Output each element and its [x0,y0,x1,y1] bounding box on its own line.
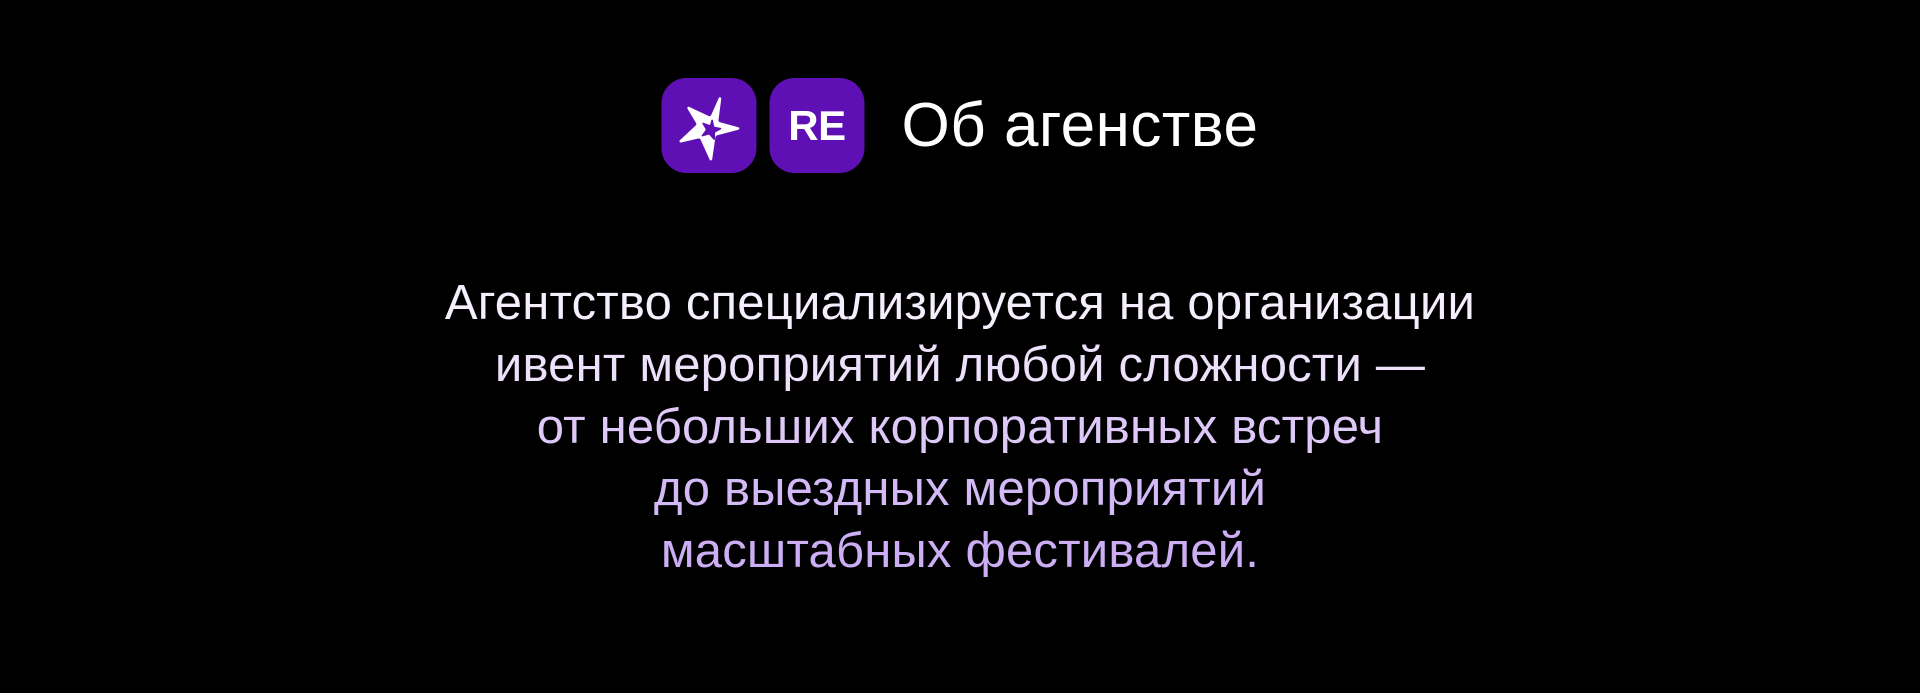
paragraph-line-2: ивент мероприятий любой сложности — [260,334,1660,396]
paragraph-line-3: от небольших корпоративных встреч [260,396,1660,458]
paragraph-line-1: Агентство специализируется на организаци… [260,272,1660,334]
logo-star-badge [661,78,756,173]
page-title: Об агенстве [901,95,1258,157]
sparkle-star-icon [674,91,744,161]
about-agency-slide: RE Об агенстве Агентство специализируетс… [0,0,1920,693]
about-paragraph: Агентство специализируется на организаци… [260,272,1660,582]
logo-re-label: RE [788,105,845,147]
header-row: RE Об агенстве [661,78,1258,173]
paragraph-line-4: до выездных мероприятий [260,458,1660,520]
paragraph-line-5: масштабных фестивалей. [260,520,1660,582]
logo-re-badge: RE [769,78,864,173]
